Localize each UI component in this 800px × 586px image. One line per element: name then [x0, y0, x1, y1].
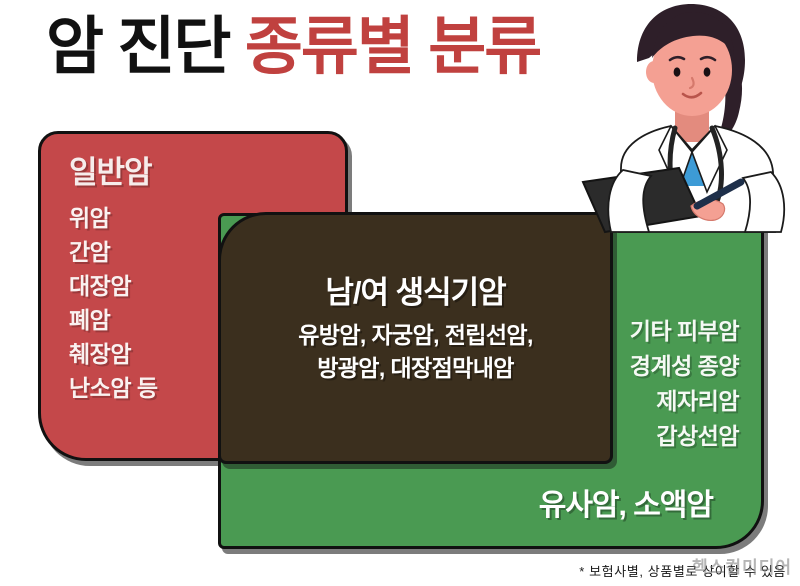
- list-item: 기타 피부암: [630, 314, 739, 349]
- list-item: 갑상선암: [630, 419, 739, 454]
- similar-cancer-list: 기타 피부암 경계성 종양 제자리암 갑상선암: [630, 314, 739, 454]
- general-cancer-header: 일반암: [69, 147, 152, 192]
- female-doctor-illustration: [575, 0, 800, 235]
- similar-cancer-footer: 유사암, 소액암: [539, 480, 713, 524]
- list-item: 제자리암: [630, 384, 739, 419]
- infographic-canvas: 암 진단 종류별 분류: [0, 0, 800, 586]
- list-item: 유방암, 자궁암, 전립선암,: [221, 319, 610, 352]
- page-title: 암 진단 종류별 분류: [46, 16, 540, 79]
- reproductive-cancer-box: 남/여 생식기암 유방암, 자궁암, 전립선암, 방광암, 대장점막내암: [218, 212, 613, 464]
- list-item: 경계성 종양: [630, 349, 739, 384]
- title-red-part: 종류별 분류: [245, 12, 540, 82]
- list-item: 방광암, 대장점막내암: [221, 352, 610, 385]
- footnote-text: * 보험사별, 상품별로 상이할 수 있음: [579, 561, 786, 580]
- title-black-part: 암 진단: [46, 12, 229, 82]
- reproductive-cancer-list: 유방암, 자궁암, 전립선암, 방광암, 대장점막내암: [221, 319, 610, 385]
- reproductive-cancer-header: 남/여 생식기암: [221, 267, 610, 312]
